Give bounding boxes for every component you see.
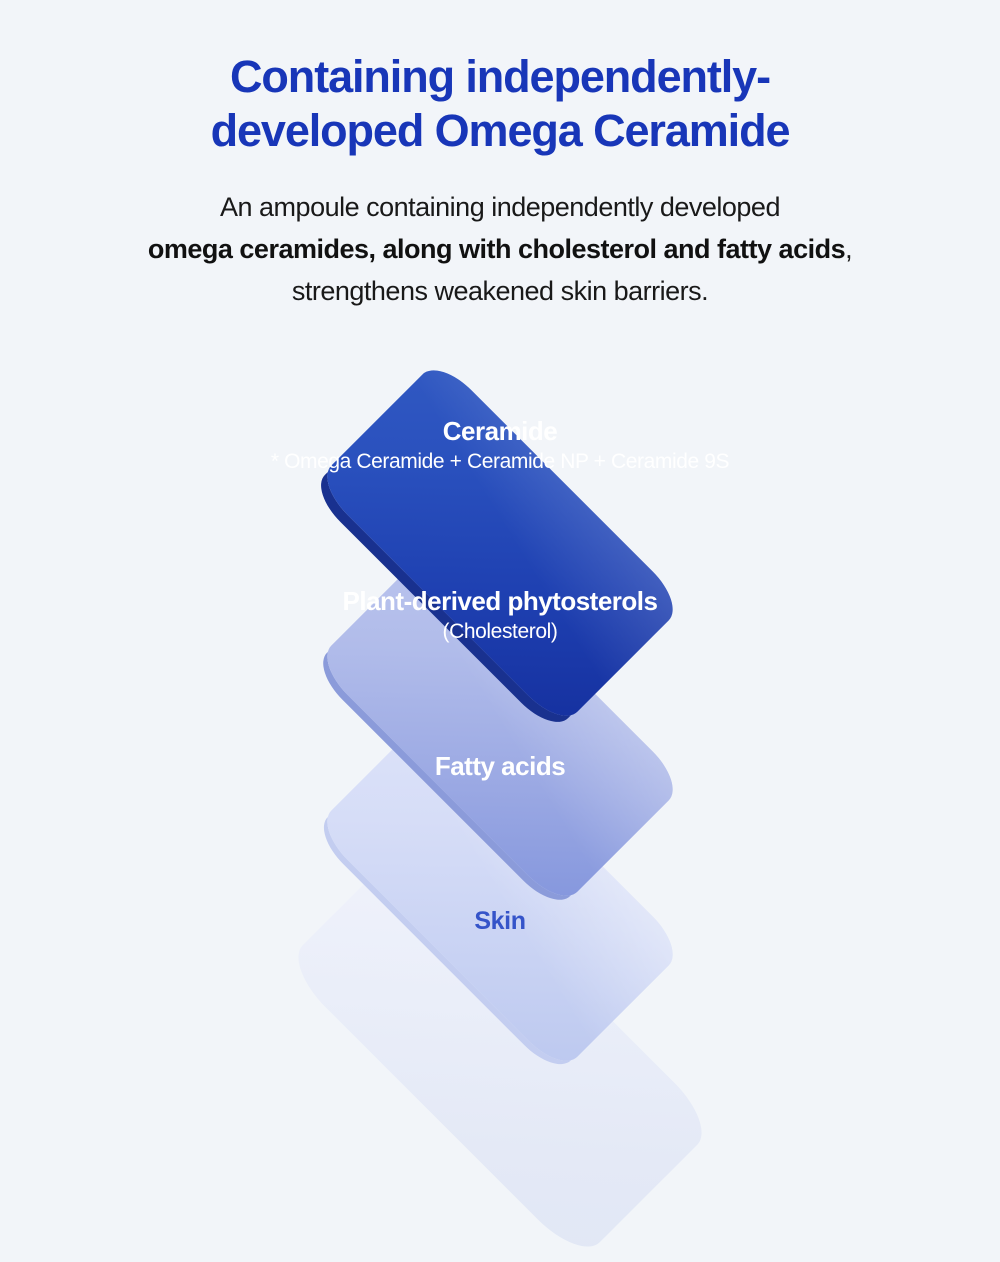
page-subtitle-line-2-bold: omega ceramides, along with cholesterol … — [148, 234, 845, 264]
header: Containing independently- developed Omeg… — [0, 0, 1000, 312]
page-subtitle-line-2-tail: , — [845, 234, 852, 264]
page-subtitle-line-1: An ampoule containing independently deve… — [220, 192, 780, 222]
page-subtitle-line-3: strengthens weakened skin barriers. — [292, 276, 708, 306]
page-title: Containing independently- developed Omeg… — [0, 0, 1000, 158]
page-title-line-2: developed Omega Ceramide — [211, 105, 790, 156]
diagram-layer-ceramide — [0, 355, 1000, 555]
skin-label: Skin — [0, 907, 1000, 936]
page-subtitle: An ampoule containing independently deve… — [0, 158, 1000, 312]
layered-diagram: Ceramide * Omega Ceramide + Ceramide NP … — [0, 355, 1000, 1000]
page-title-line-1: Containing independently- — [230, 51, 770, 102]
